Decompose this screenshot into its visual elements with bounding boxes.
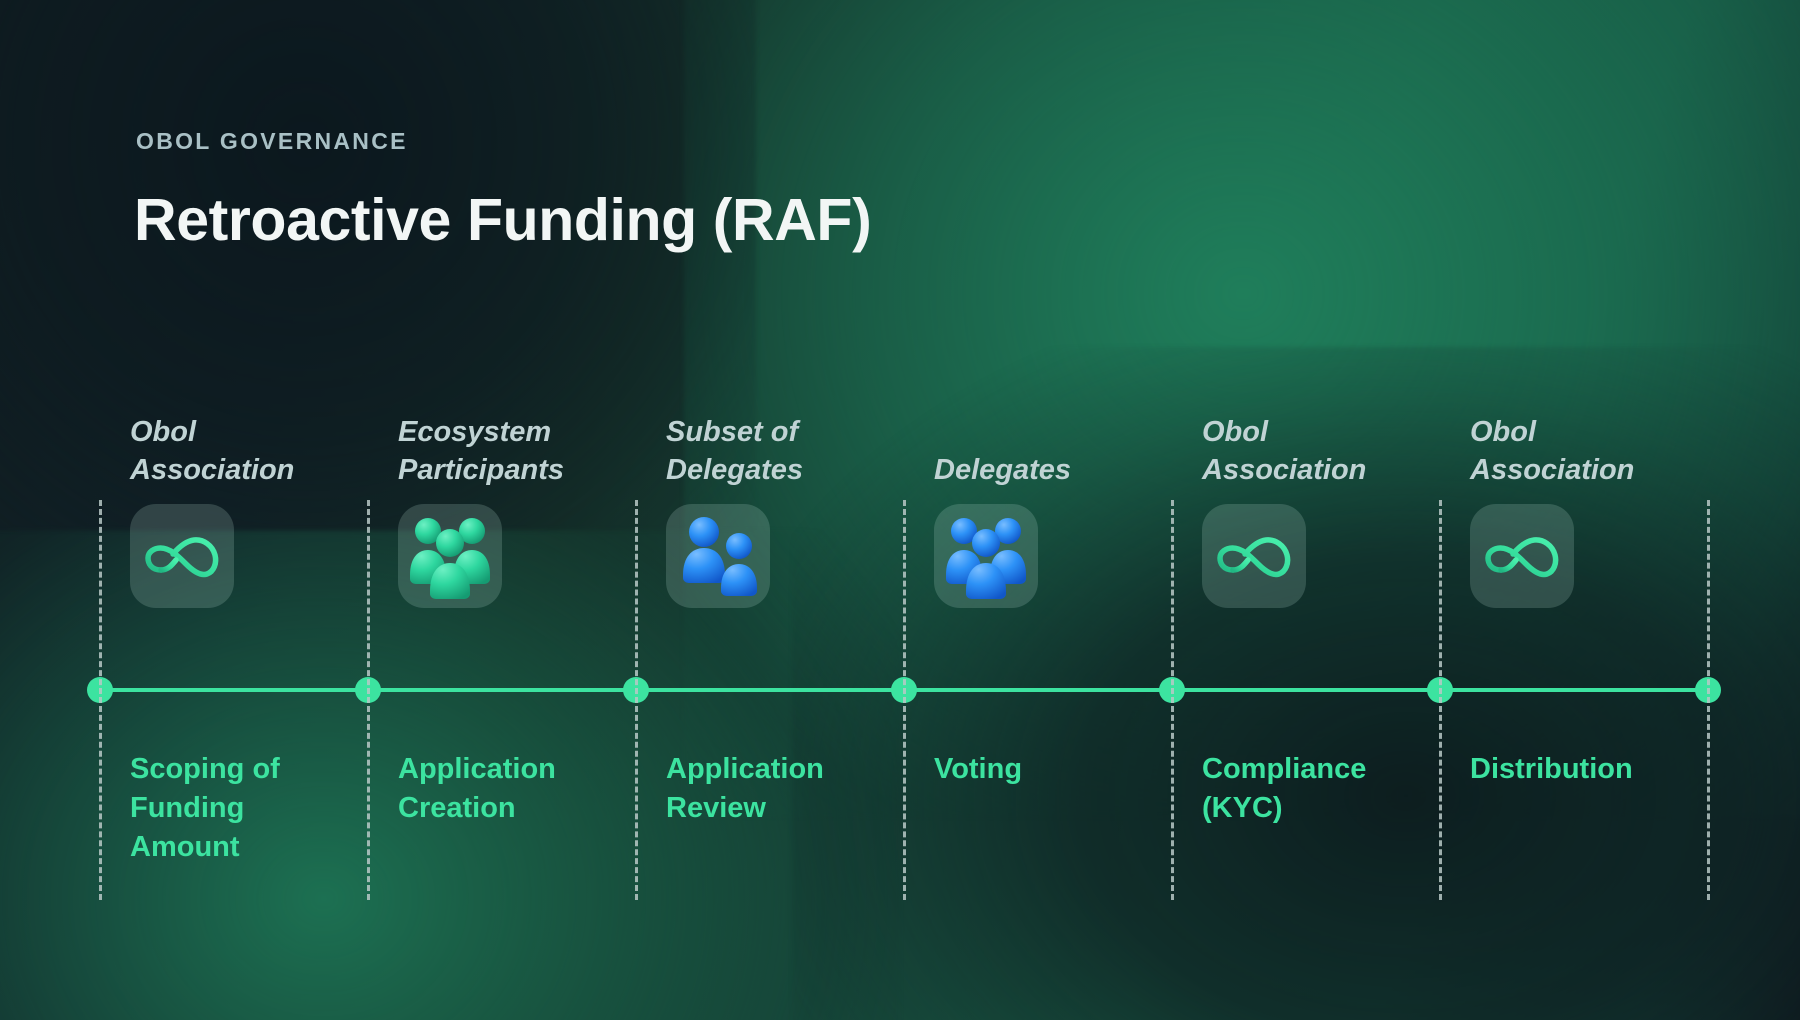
- stage-role-label: Obol Association: [1470, 413, 1700, 490]
- people-group-icon: [404, 513, 496, 599]
- stage-step-label: Application Creation: [398, 750, 613, 828]
- people-group-icon: [940, 513, 1032, 599]
- stage-step-label: Application Review: [666, 750, 881, 828]
- people-pair-icon: [676, 515, 760, 597]
- stage-role-container: Delegates: [934, 386, 1164, 490]
- stage-role-container: Obol Association: [1470, 386, 1700, 490]
- eyebrow-label: OBOL GOVERNANCE: [136, 128, 408, 155]
- stage-role-label: Obol Association: [1202, 413, 1432, 490]
- background-shadow-top-left: [0, 0, 756, 530]
- stage-icon-tile: [130, 504, 234, 608]
- stage-role-container: Obol Association: [130, 386, 360, 490]
- stage-role-label: Ecosystem Participants: [398, 413, 628, 490]
- timeline-divider-line: [903, 500, 906, 900]
- stage-icon-tile: [666, 504, 770, 608]
- stage-icon-tile: [1470, 504, 1574, 608]
- stage-step-label: Distribution: [1470, 750, 1685, 789]
- infographic-canvas: OBOL GOVERNANCE Retroactive Funding (RAF…: [0, 0, 1800, 1020]
- stage-step-label: Voting: [934, 750, 1149, 789]
- stage-icon-tile: [398, 504, 502, 608]
- obol-infinity-icon: [1484, 527, 1560, 585]
- timeline-divider-line: [1439, 500, 1442, 900]
- stage-role-container: Obol Association: [1202, 386, 1432, 490]
- timeline-divider-line: [1171, 500, 1174, 900]
- stage-step-label: Compliance (KYC): [1202, 750, 1417, 828]
- obol-infinity-icon: [144, 527, 220, 585]
- stage-icon-tile: [934, 504, 1038, 608]
- stage-step-label: Scoping of Funding Amount: [130, 750, 345, 867]
- obol-infinity-icon: [1216, 527, 1292, 585]
- stage-icon-tile: [1202, 504, 1306, 608]
- stage-role-label: Obol Association: [130, 413, 360, 490]
- stage-role-container: Subset of Delegates: [666, 386, 896, 490]
- stage-role-container: Ecosystem Participants: [398, 386, 628, 490]
- stage-role-label: Subset of Delegates: [666, 413, 896, 490]
- timeline-divider-line: [99, 500, 102, 900]
- timeline-divider-line: [367, 500, 370, 900]
- page-title: Retroactive Funding (RAF): [134, 186, 871, 254]
- timeline-divider-line: [1707, 500, 1710, 900]
- timeline-divider-line: [635, 500, 638, 900]
- stage-role-label: Delegates: [934, 451, 1164, 490]
